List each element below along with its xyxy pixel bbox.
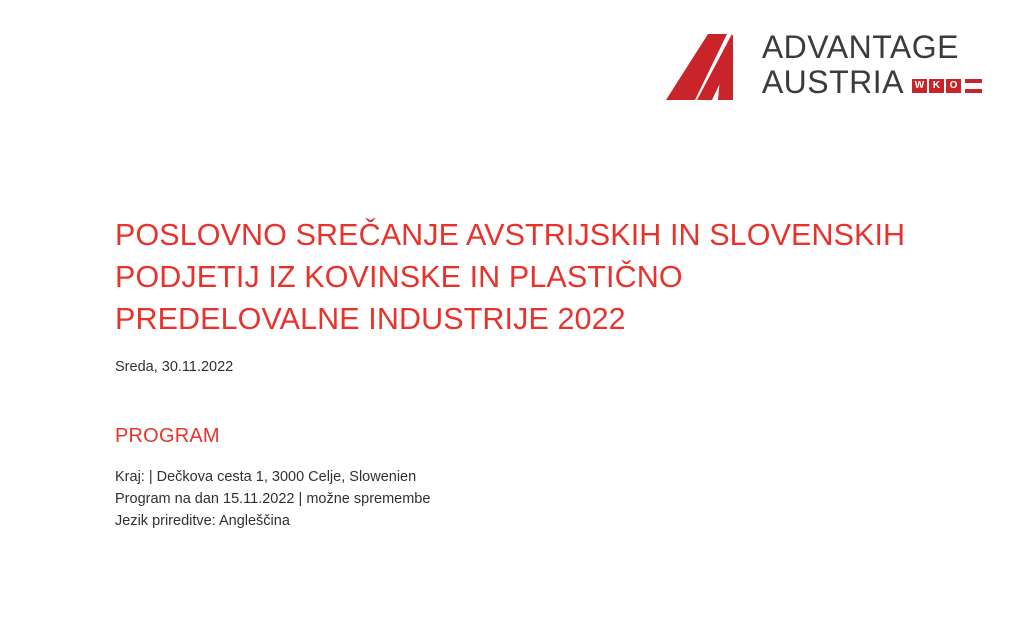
- event-details: Kraj: | Dečkova cesta 1, 3000 Celje, Slo…: [115, 466, 965, 532]
- program-heading: PROGRAM: [115, 423, 965, 449]
- flag-stripe-bottom: [965, 89, 982, 93]
- logo-wordmark: ADVANTAGE AUSTRIA W K O: [762, 31, 982, 98]
- flag-stripe-middle: [965, 84, 982, 88]
- advantage-austria-logo: ADVANTAGE AUSTRIA W K O: [666, 28, 982, 100]
- logo-austria-text: AUSTRIA: [762, 66, 904, 98]
- wko-letter-k: K: [929, 79, 944, 93]
- page-title: POSLOVNO SREČANJE AVSTRIJSKIH IN SLOVENS…: [115, 214, 915, 340]
- event-date: Sreda, 30.11.2022: [115, 357, 965, 377]
- slide-page: { "brand": { "logo_mark_name": "advantag…: [0, 0, 1024, 629]
- detail-program-note: Program na dan 15.11.2022 | možne spreme…: [115, 488, 965, 510]
- logo-advantage-text: ADVANTAGE: [762, 31, 982, 63]
- austria-flag-icon: [965, 79, 982, 93]
- flag-stripe-top: [965, 79, 982, 83]
- document-content: POSLOVNO SREČANJE AVSTRIJSKIH IN SLOVENS…: [115, 214, 965, 532]
- detail-language: Jezik prireditve: Angleščina: [115, 510, 965, 532]
- wko-badge: W K O: [912, 79, 982, 93]
- advantage-austria-m-mark: [666, 28, 748, 100]
- detail-venue: Kraj: | Dečkova cesta 1, 3000 Celje, Slo…: [115, 466, 965, 488]
- wko-letter-o: O: [946, 79, 961, 93]
- wko-letter-w: W: [912, 79, 927, 93]
